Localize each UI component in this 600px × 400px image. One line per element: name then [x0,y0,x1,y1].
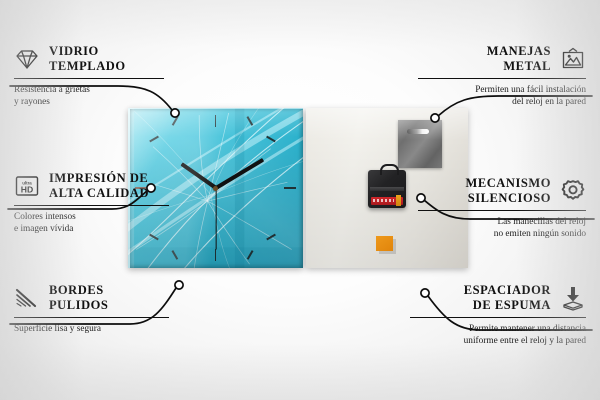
feature-desc-line1: Permiten una fácil instalación [418,84,586,96]
ultra-hd-icon: ultra HD [14,173,40,199]
feature-title-line1: BORDES [49,283,108,298]
leader-dot-bottom-left [175,281,183,289]
battery [371,197,403,205]
feature-desc-line1: Resistencia a grietas [14,84,164,96]
feature-rule [418,210,586,211]
feature-impresion-alta-calidad: ultra HD IMPRESIÓN DE ALTA CALIDAD Color… [14,171,169,235]
hanger-slot [407,129,429,134]
metal-hanger-plate [398,120,442,168]
feature-desc-line1: Colores intensos [14,211,169,223]
feature-desc-line2: uniforme entre el reloj y la pared [410,335,586,347]
feature-rule [14,205,169,206]
feature-mecanismo-silencioso: MECANISMO SILENCIOSO Las manecillas del … [418,176,586,240]
feature-desc-line1: Permite mantener una distancia [410,323,586,335]
feature-desc-line1: Las manecillas del reloj [418,216,586,228]
feature-title-line1: IMPRESIÓN DE [49,171,149,186]
feature-desc-line1: Superficie lisa y segura [14,323,169,335]
mechanism-band [370,187,404,191]
feature-title-line1: ESPACIADOR [464,283,551,298]
feature-rule [14,317,169,318]
quartz-mechanism-box [368,170,406,208]
feature-bordes-pulidos: BORDES PULIDOS Superficie lisa y segura [14,283,169,335]
feature-desc-line2: e imagen vívida [14,223,169,235]
feature-manejas-metal: MANEJAS METAL Permiten una fácil instala… [418,44,586,108]
foam-spacer-arrow-icon [560,285,586,311]
feature-title-line2: METAL [487,59,551,74]
feature-title-line2: PULIDOS [49,298,108,313]
feature-vidrio-templado: VIDRIO TEMPLADO Resistencia a grietas y … [14,44,164,108]
wall-frame-hanger-icon [560,46,586,72]
gear-icon [560,178,586,204]
feature-rule [14,78,164,79]
feature-title-line2: DE ESPUMA [464,298,551,313]
feature-title-line1: MECANISMO [465,176,551,191]
infographic-canvas: VIDRIO TEMPLADO Resistencia a grietas y … [0,0,600,400]
feature-desc-line2: no emiten ningún sonido [418,228,586,240]
diamond-icon [14,46,40,72]
svg-text:HD: HD [21,184,33,194]
feature-rule [418,78,586,79]
feature-title-line2: ALTA CALIDAD [49,186,149,201]
foam-spacer-pad [376,236,393,251]
feature-desc-line2: y rayones [14,96,164,108]
mechanism-loop [380,164,399,175]
feature-espaciador-espuma: ESPACIADOR DE ESPUMA Permite mantener un… [410,283,586,347]
product-photo [128,108,468,268]
feature-desc-line2: del reloj en la pared [418,96,586,108]
feature-rule [410,317,586,318]
feature-title-line1: MANEJAS [487,44,551,59]
polished-edge-icon [14,285,40,311]
feature-title-line1: VIDRIO [49,44,126,59]
battery-label [373,199,394,202]
feature-title-line2: SILENCIOSO [465,191,551,206]
feature-title-line2: TEMPLADO [49,59,126,74]
